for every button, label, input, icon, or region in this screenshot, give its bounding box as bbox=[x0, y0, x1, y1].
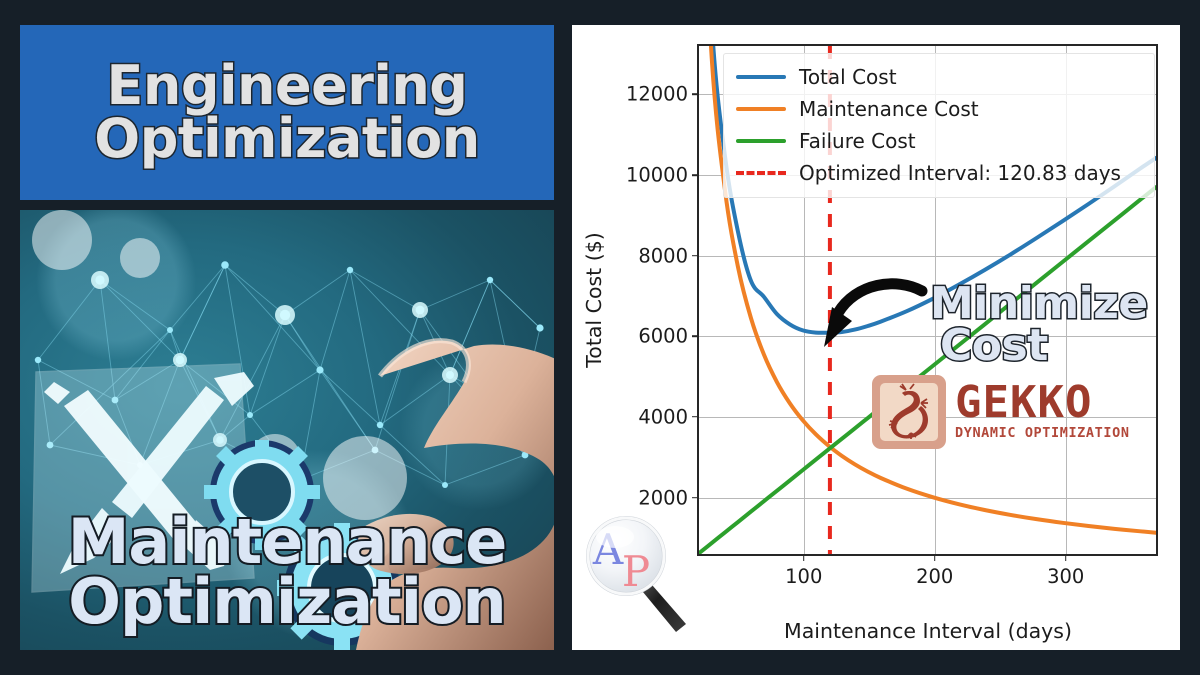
x-tick-label-200: 200 bbox=[916, 565, 953, 588]
annotation-line-2: Cost bbox=[940, 325, 1048, 367]
gekko-badge bbox=[872, 375, 946, 449]
minimize-cost-annotation: Minimize Cost bbox=[930, 283, 1160, 367]
x-tick-mark bbox=[1065, 554, 1067, 561]
legend-label-failure-cost: Failure Cost bbox=[799, 129, 916, 153]
legend-swatch-optimized-interval bbox=[734, 157, 788, 189]
gekko-badge-inner bbox=[880, 383, 938, 441]
y-tick-label-10000: 10000 bbox=[626, 164, 688, 187]
pointing-hand-icon bbox=[328, 320, 554, 650]
gekko-name: GEKKO bbox=[955, 383, 1130, 423]
x-tick-label-300: 300 bbox=[1047, 565, 1084, 588]
y-tick-label-6000: 6000 bbox=[638, 325, 688, 348]
x-axis-label: Maintenance Interval (days) bbox=[784, 619, 1072, 643]
left-column: Engineering Optimization bbox=[20, 25, 554, 650]
chart-panel: Total Cost ($) Maintenance Interval (day… bbox=[572, 25, 1180, 650]
y-tick-mark bbox=[692, 416, 699, 418]
gecko-icon bbox=[880, 383, 938, 441]
magnifying-glass-icon: A P bbox=[582, 512, 698, 632]
y-tick-label-2000: 2000 bbox=[638, 486, 688, 509]
x-tick-mark bbox=[803, 554, 805, 561]
x-tick-label-100: 100 bbox=[785, 565, 822, 588]
title-banner: Engineering Optimization bbox=[20, 25, 554, 200]
curved-arrow-icon bbox=[818, 277, 928, 357]
y-tick-mark bbox=[692, 335, 699, 337]
legend-item-failure-cost[interactable]: Failure Cost bbox=[734, 125, 1144, 157]
y-tick-label-4000: 4000 bbox=[638, 405, 688, 428]
chart-legend[interactable]: Total Cost Maintenance Cost Failure Cost… bbox=[723, 53, 1155, 198]
banner-line-1: Engineering bbox=[107, 60, 468, 113]
legend-label-optimized-interval: Optimized Interval: 120.83 days bbox=[799, 161, 1121, 185]
legend-swatch-total-cost bbox=[734, 61, 788, 93]
y-tick-mark bbox=[692, 497, 699, 499]
annotation-line-1: Minimize bbox=[930, 283, 1148, 325]
hero-image: Maintenance Optimization bbox=[20, 210, 554, 650]
legend-item-total-cost[interactable]: Total Cost bbox=[734, 61, 1144, 93]
poster-root: Engineering Optimization bbox=[0, 0, 1200, 675]
y-axis-label: Total Cost ($) bbox=[582, 232, 606, 368]
gekko-wordmark: GEKKO DYNAMIC OPTIMIZATION bbox=[955, 383, 1130, 441]
y-tick-label-12000: 12000 bbox=[626, 83, 688, 106]
legend-label-total-cost: Total Cost bbox=[799, 65, 897, 89]
y-tick-mark bbox=[692, 174, 699, 176]
banner-line-2: Optimization bbox=[94, 113, 479, 166]
gekko-logo: GEKKO DYNAMIC OPTIMIZATION bbox=[872, 375, 1130, 449]
gekko-tagline: DYNAMIC OPTIMIZATION bbox=[955, 425, 1130, 441]
series-failure-cost bbox=[699, 187, 1156, 553]
y-tick-mark bbox=[692, 255, 699, 257]
legend-item-optimized-interval[interactable]: Optimized Interval: 120.83 days bbox=[734, 157, 1144, 189]
legend-item-maintenance-cost[interactable]: Maintenance Cost bbox=[734, 93, 1144, 125]
legend-swatch-failure-cost bbox=[734, 125, 788, 157]
y-tick-label-8000: 8000 bbox=[638, 244, 688, 267]
y-tick-mark bbox=[692, 94, 699, 96]
legend-swatch-maintenance-cost bbox=[734, 93, 788, 125]
x-tick-mark bbox=[934, 554, 936, 561]
legend-label-maintenance-cost: Maintenance Cost bbox=[799, 97, 979, 121]
